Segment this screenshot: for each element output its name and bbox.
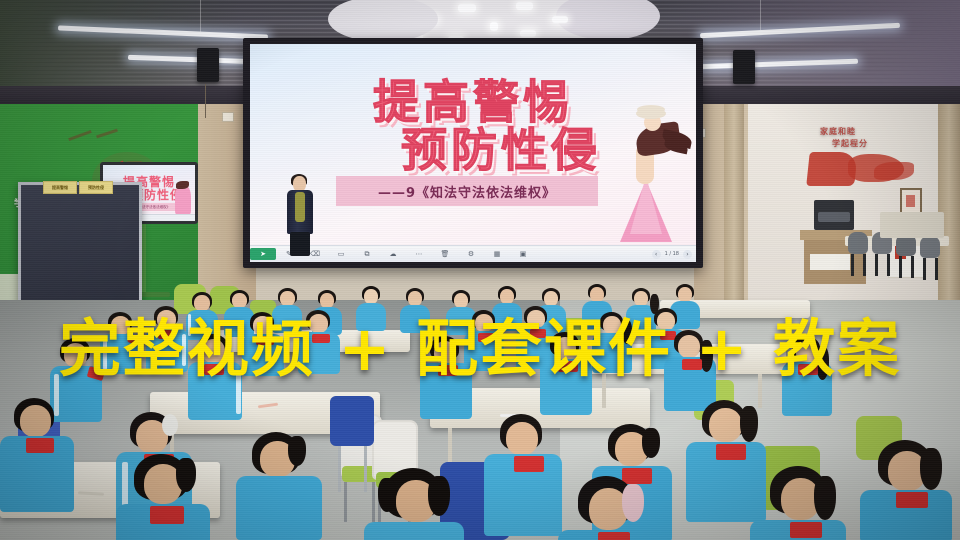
white-wall: 家庭和睦 学起程分 (748, 104, 960, 304)
board-card: 提高警惕 (43, 181, 77, 194)
toolbar-item-cloud-tool[interactable]: ☁ (380, 248, 406, 260)
red-scarf (622, 468, 652, 484)
monitor-illustration (175, 185, 191, 215)
student-head (320, 293, 334, 308)
student-head (500, 289, 514, 304)
toolbar-item-delete-tool[interactable]: 🗑 (432, 248, 458, 260)
student-uniform (364, 522, 464, 540)
hair-tie (162, 414, 178, 436)
red-scarf (896, 492, 928, 508)
chair-leg (935, 258, 938, 280)
page-indicator: 1 / 18 (665, 251, 679, 257)
student-head (634, 291, 648, 306)
downlight (490, 22, 498, 31)
cloud-tool-icon: ☁ (390, 251, 397, 258)
chair-leg (887, 254, 890, 276)
slide-subtitle: ——9《知法守法依法维权》 (336, 176, 598, 206)
classroom-photo: 书山有路勤为径 学海无涯苦作舟 阅读 家庭和睦 学起程分 (0, 0, 960, 540)
toolbar-item-crop-tool[interactable]: ⧉ (354, 248, 380, 260)
chair-leg (338, 446, 341, 492)
right-wall-calligraphy-line2: 学起程分 (832, 138, 868, 149)
hair-ribbon (622, 484, 644, 522)
chair-leg (863, 254, 866, 276)
light-hanger (760, 0, 761, 30)
speaker (733, 50, 755, 84)
student-ponytail (288, 436, 306, 466)
teacher (287, 176, 317, 262)
student-head (280, 291, 295, 306)
girl-hat (636, 108, 666, 119)
student-head (20, 405, 51, 437)
equipment-panel (818, 212, 850, 222)
downlight (422, 16, 438, 23)
red-scarf (716, 444, 746, 460)
screen-tool-icon: ▣ (520, 251, 527, 258)
red-scarf (514, 456, 544, 472)
toolbar-item-shape-tool[interactable]: ▭ (328, 248, 354, 260)
red-scarf (598, 532, 630, 540)
red-scarf (150, 506, 184, 524)
av-cart-shelf-item (810, 254, 850, 270)
student-head (506, 422, 538, 455)
red-scarf (790, 522, 822, 538)
speaker (197, 48, 219, 82)
toolbar-item-screen-tool[interactable]: ▣ (510, 248, 536, 260)
student-head (544, 291, 558, 306)
ceiling-right-tint (660, 0, 960, 92)
chair-leg (875, 254, 878, 276)
chair-back (848, 232, 868, 254)
next-page-button[interactable]: › (683, 250, 692, 259)
toolbar-item-settings-tool[interactable]: ⚙ (458, 248, 484, 260)
student-ponytail (814, 476, 836, 520)
student-head (590, 287, 604, 302)
chair-back (920, 236, 940, 258)
slide-nav[interactable]: ‹ 1 / 18 › (652, 250, 696, 259)
monitor-illustration-hair (176, 181, 189, 189)
girl-skirt-overlay (630, 176, 662, 234)
wall-brush-stroke (96, 129, 118, 139)
student-ponytail (428, 476, 450, 516)
right-wall-calligraphy-line1: 家庭和睦 (820, 126, 856, 137)
wall-column (938, 104, 960, 304)
chair-leg (364, 446, 367, 492)
framed-picture (900, 188, 922, 214)
wall-socket (222, 112, 234, 122)
picture-content (906, 195, 915, 207)
prev-page-button[interactable]: ‹ (652, 250, 661, 259)
chair-leg (851, 254, 854, 276)
teacher-top (295, 192, 305, 222)
girl-in-pink-dress-illustration (602, 88, 692, 248)
student-ponytail (176, 458, 196, 492)
chair-back (330, 396, 374, 446)
chair-leg (899, 256, 902, 278)
student-ponytail (378, 478, 396, 512)
toolbar-item-view-tool[interactable]: ▦ (484, 248, 510, 260)
student-head (232, 293, 247, 308)
student-head (364, 289, 378, 304)
chair-leg (372, 482, 375, 522)
downlight (552, 16, 568, 23)
student-ponytail (642, 428, 660, 458)
shape-tool-icon: ▭ (338, 251, 345, 258)
teacher-legs (290, 232, 310, 256)
speaker-cable (205, 84, 206, 118)
downlight (516, 2, 533, 10)
downlight (520, 30, 536, 37)
select-tool-icon: ➤ (260, 251, 266, 258)
student-head (408, 291, 422, 306)
student-head (709, 408, 742, 442)
wall-column (724, 104, 744, 304)
wall-brush-stroke (68, 130, 92, 141)
settings-tool-icon: ⚙ (468, 251, 474, 258)
student-ponytail (920, 448, 942, 490)
chair-leg (923, 258, 926, 280)
more-tool-icon: ⋯ (416, 251, 423, 258)
student-head (678, 287, 692, 302)
view-tool-icon: ▦ (494, 251, 501, 258)
student-ponytail (740, 406, 758, 442)
student-head (194, 295, 210, 311)
side-cabinet (880, 212, 944, 238)
video-caption: 完整视频 + 配套课件 + 教案 (0, 318, 960, 380)
light-hanger (200, 0, 201, 32)
red-ribbon-decoration (874, 162, 914, 180)
crop-tool-icon: ⧉ (365, 251, 370, 258)
delete-tool-icon: 🗑 (441, 251, 450, 258)
board-card: 预防性侵 (79, 181, 113, 194)
chair-leg (344, 482, 347, 522)
toolbar-item-more-tool[interactable]: ⋯ (406, 248, 432, 260)
red-scarf (26, 438, 54, 453)
chalkboard: 提高警惕 预防性侵 (18, 182, 142, 310)
student-uniform (236, 476, 322, 540)
downlight (458, 4, 476, 12)
caption-text: 完整视频 + 配套课件 + 教案 (59, 312, 901, 385)
chair-leg (911, 256, 914, 278)
student-head (454, 293, 468, 308)
toolbar-item-select-tool[interactable]: ➤ (250, 248, 276, 260)
